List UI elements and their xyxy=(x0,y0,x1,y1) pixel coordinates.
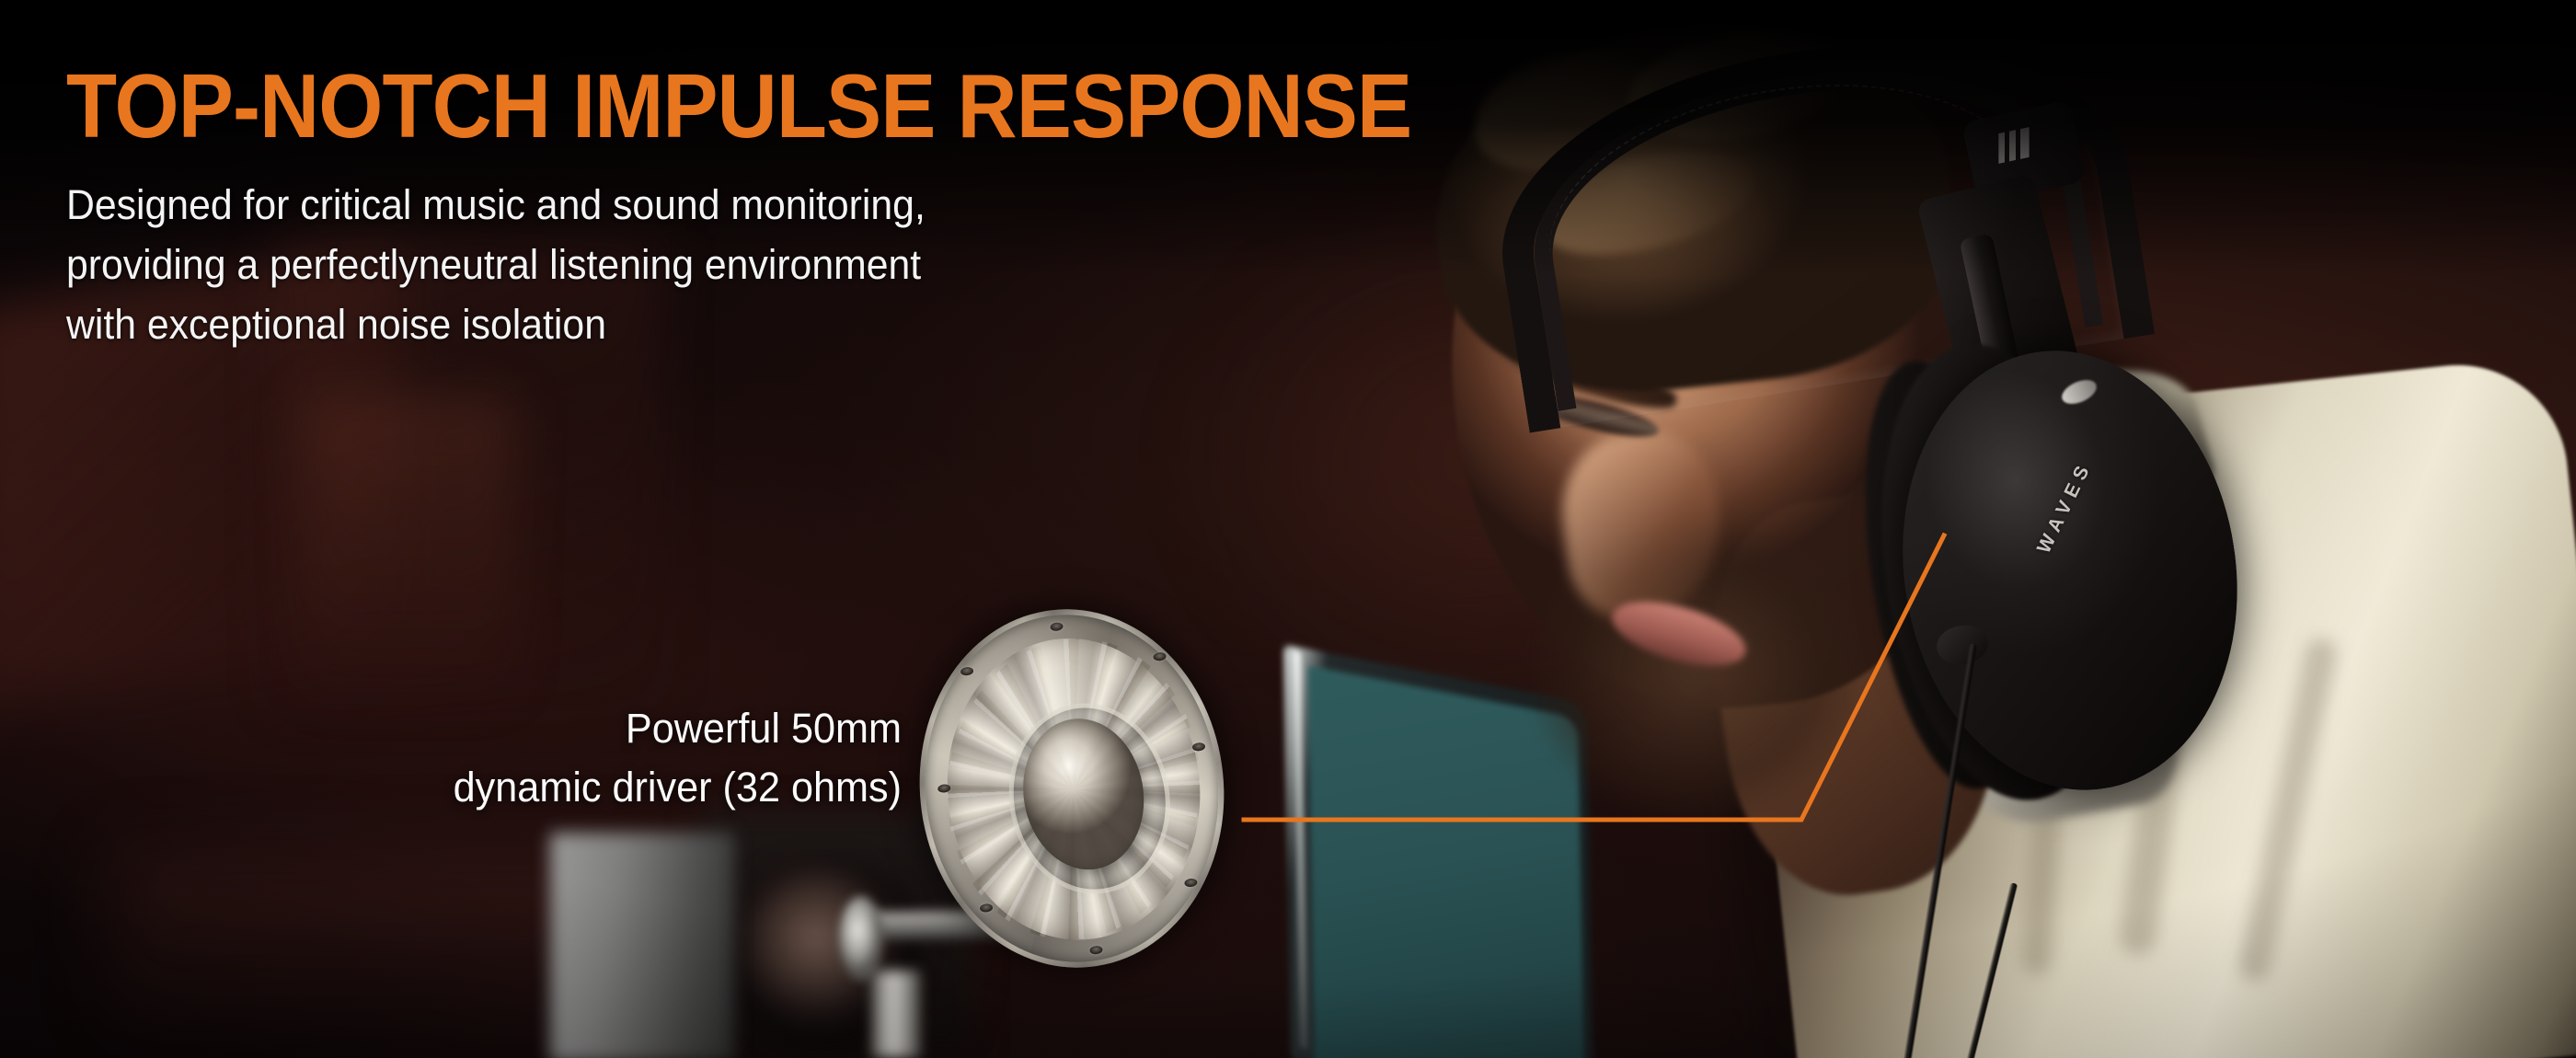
driver-callout-line-1: Powerful 50mm xyxy=(230,699,902,758)
subheading-copy: Designed for critical music and sound mo… xyxy=(66,175,926,354)
product-feature-banner: WAVES TOP-NOTCH IMPULSE RESPONSE Designe… xyxy=(0,0,2576,1058)
subheading-line-2: providing a perfectlyneutral listening e… xyxy=(66,235,926,294)
subheading-line-3: with exceptional noise isolation xyxy=(66,294,926,354)
driver-callout-line-2: dynamic driver (32 ohms) xyxy=(230,758,902,817)
subheading-line-1: Designed for critical music and sound mo… xyxy=(66,175,926,235)
driver-callout: Powerful 50mm dynamic driver (32 ohms) xyxy=(230,699,902,817)
page-title: TOP-NOTCH IMPULSE RESPONSE xyxy=(66,61,1411,151)
